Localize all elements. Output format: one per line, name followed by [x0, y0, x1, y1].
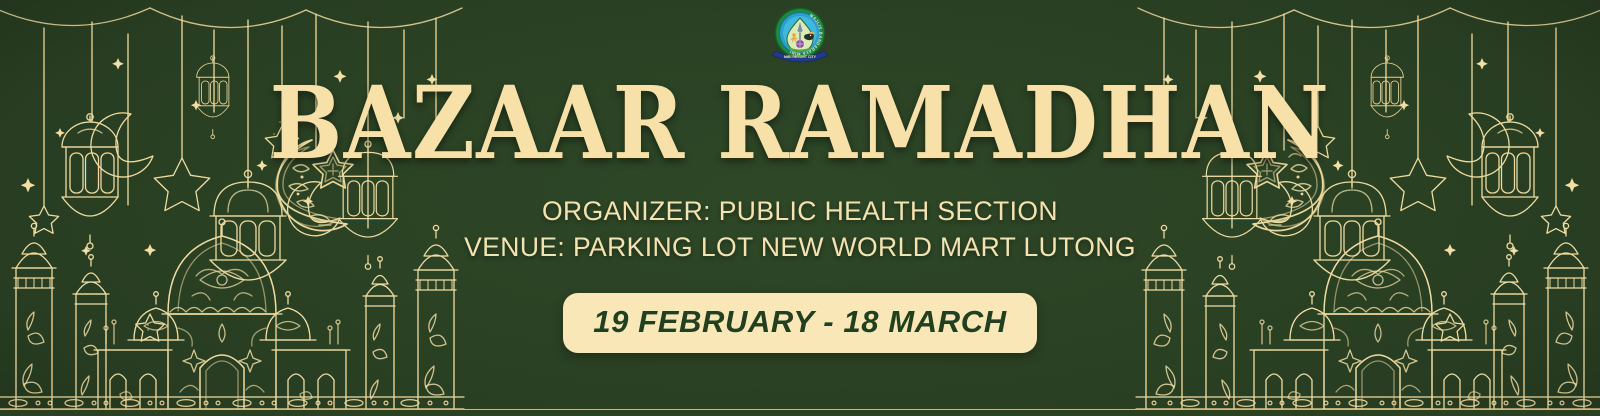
banner-subtitle: ORGANIZER: PUBLIC HEALTH SECTION VENUE: … [464, 193, 1136, 265]
organizer-line: ORGANIZER: PUBLIC HEALTH SECTION [464, 193, 1136, 229]
banner-content: BAZAAR RAMADHAN ORGANIZER: PUBLIC HEALTH… [0, 0, 1600, 416]
ramadhan-bazaar-banner: MAJLIS BANDARAYA MIRI MIRI RESORT CITY [0, 0, 1600, 416]
banner-title: BAZAAR RAMADHAN [270, 78, 1331, 172]
bottom-border-line [0, 409, 1600, 416]
venue-line: VENUE: PARKING LOT NEW WORLD MART LUTONG [464, 229, 1136, 265]
date-range-badge: 19 FEBRUARY - 18 MARCH [563, 293, 1036, 353]
